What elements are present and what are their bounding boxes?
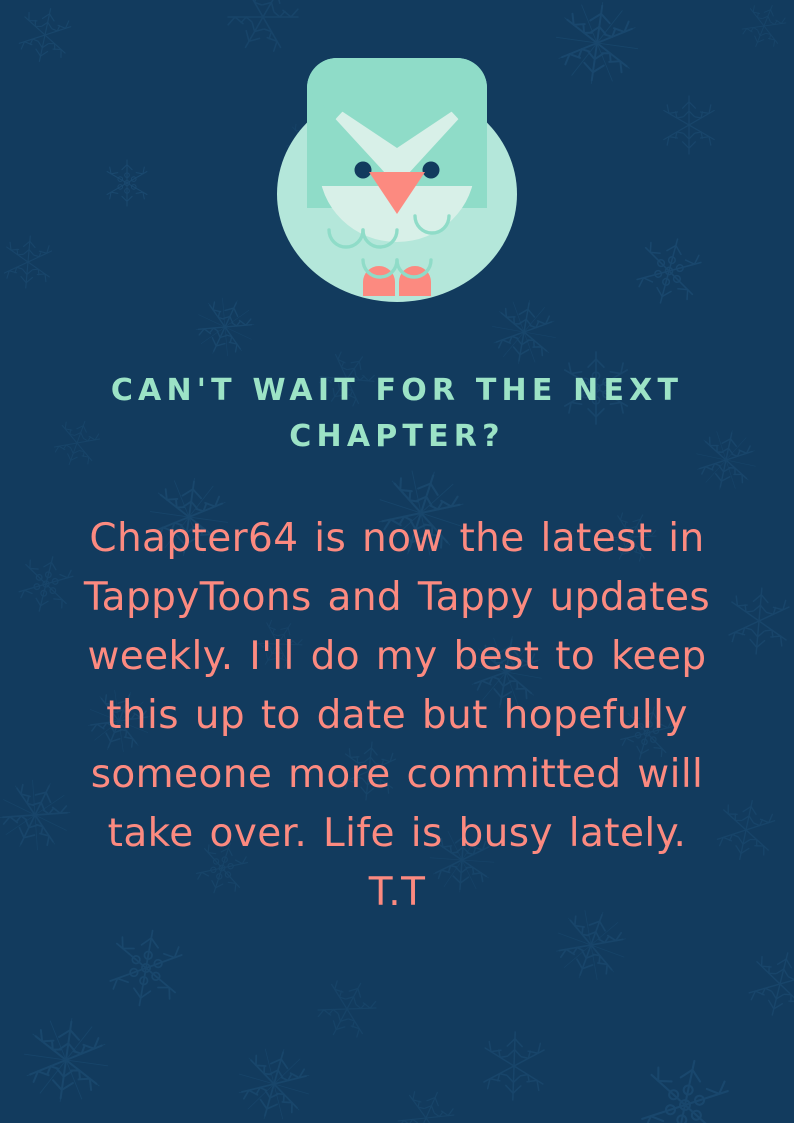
snowflake xyxy=(483,1031,544,1101)
snowflake xyxy=(3,234,52,290)
snowflake xyxy=(19,1013,114,1108)
snowflake xyxy=(392,1083,459,1123)
snowflake xyxy=(745,946,794,1022)
snowflake xyxy=(738,0,790,54)
snowflake xyxy=(664,96,714,154)
snowflake xyxy=(551,0,644,89)
owl-eye-right xyxy=(423,162,440,179)
snowflake xyxy=(638,1053,733,1123)
snowflake xyxy=(107,160,147,206)
poster-canvas: Can't wait for the next chapter? Chapter… xyxy=(0,0,794,1123)
page-title: Can't wait for the next chapter? xyxy=(0,368,794,460)
snowflake xyxy=(633,232,705,311)
owl-eye-left xyxy=(355,162,372,179)
snowflake xyxy=(311,972,383,1047)
announcement-body: Chapter64 is now the latest in TappyToon… xyxy=(0,509,794,922)
owl-illustration xyxy=(267,44,527,306)
snowflake xyxy=(107,925,185,1011)
snowflake xyxy=(186,288,263,365)
snowflake xyxy=(17,4,74,67)
snowflake xyxy=(229,1039,318,1123)
snowflake xyxy=(487,295,561,369)
